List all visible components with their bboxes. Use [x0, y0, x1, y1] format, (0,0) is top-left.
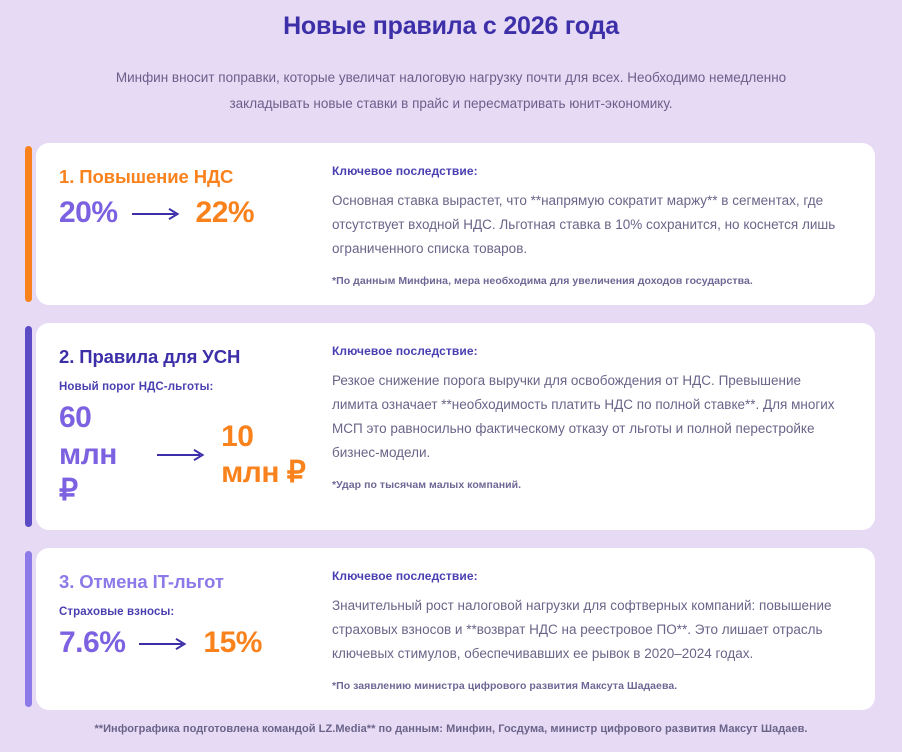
card-heading: 1. Повышение НДС [59, 165, 318, 188]
arrow-right-icon [156, 448, 208, 462]
metric-to-value: 10 млн ₽ [221, 419, 318, 492]
key-consequence-label: Ключевое последствие: [332, 344, 845, 358]
metric-from-value: 7.6% [59, 625, 125, 662]
metric-comparison: 60 млн ₽ 10 млн ₽ [59, 400, 318, 510]
key-consequence-text: Значительный рост налоговой нагрузки для… [332, 594, 845, 666]
metric-comparison: 20% 22% [59, 195, 318, 232]
page-header: Новые правила с 2026 года Минфин вносит … [0, 0, 902, 117]
card-usn-rules: 2. Правила для УСН Новый порог НДС-льгот… [25, 323, 875, 530]
metric-label: Страховые взносы: [59, 606, 318, 618]
card-detail-panel: Ключевое последствие: Резкое снижение по… [332, 323, 875, 530]
cards-list: 1. Повышение НДС 20% 22% [0, 143, 902, 710]
card-heading: 3. Отмена IT-льгот [59, 570, 318, 593]
metric-from-value: 20% [59, 195, 118, 232]
page-title: Новые правила с 2026 года [0, 10, 902, 43]
card-detail-panel: Ключевое последствие: Основная ставка вы… [332, 143, 875, 305]
card-metric-panel: 1. Повышение НДС 20% 22% [36, 143, 332, 305]
key-consequence-text: Резкое снижение порога выручки для освоб… [332, 369, 845, 465]
accent-bar [25, 551, 32, 707]
key-consequence-label: Ключевое последствие: [332, 164, 845, 178]
accent-bar [25, 146, 32, 302]
page-footer: **Инфографика подготовлена командой LZ.M… [0, 723, 902, 735]
metric-label: Новый порог НДС-льготы: [59, 381, 318, 393]
arrow-right-icon [131, 207, 183, 221]
infographic-page: Новые правила с 2026 года Минфин вносит … [0, 0, 902, 752]
metric-to-value: 15% [203, 625, 262, 662]
accent-bar [25, 326, 32, 527]
key-consequence-text: Основная ставка вырастет, что **напрямую… [332, 189, 845, 261]
card-footnote: *Удар по тысячам малых компаний. [332, 479, 845, 491]
metric-comparison: 7.6% 15% [59, 625, 318, 662]
key-consequence-label: Ключевое последствие: [332, 569, 845, 583]
card-heading: 2. Правила для УСН [59, 345, 318, 368]
metric-from-value: 60 млн ₽ [59, 400, 143, 510]
page-subtitle: Минфин вносит поправки, которые увеличат… [86, 65, 816, 118]
card-footnote: *По заявлению министра цифрового развити… [332, 680, 845, 692]
card-metric-panel: 3. Отмена IT-льгот Страховые взносы: 7.6… [36, 548, 332, 710]
card-detail-panel: Ключевое последствие: Значительный рост … [332, 548, 875, 710]
card-metric-panel: 2. Правила для УСН Новый порог НДС-льгот… [36, 323, 332, 530]
metric-to-value: 22% [196, 195, 255, 232]
card-footnote: *По данным Минфина, мера необходима для … [332, 275, 845, 287]
card-it-benefits-cancelled: 3. Отмена IT-льгот Страховые взносы: 7.6… [25, 548, 875, 710]
card-vat-increase: 1. Повышение НДС 20% 22% [25, 143, 875, 305]
arrow-right-icon [138, 637, 190, 651]
